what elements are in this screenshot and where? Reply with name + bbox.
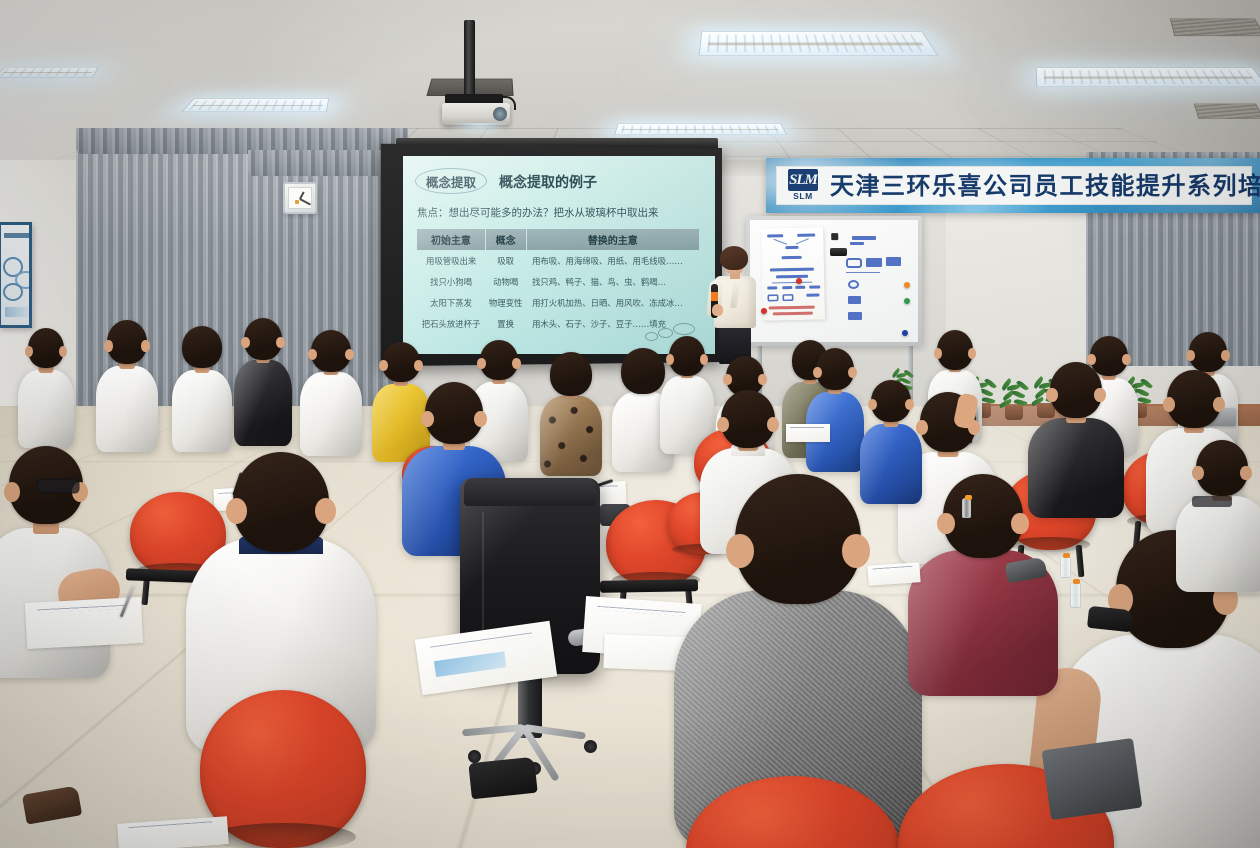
whiteboard-magnet <box>902 330 908 336</box>
slide-cell-original: 用吸管吸出来 <box>417 250 485 271</box>
handout-paper <box>867 562 920 586</box>
paper-ink-node <box>785 246 798 249</box>
paper-ink-box <box>767 294 778 301</box>
office-chair-caster <box>468 750 481 763</box>
slide-cell-alternatives: 找只鸡、鸭子、猫、鸟、虫、鹤喝… <box>526 271 699 292</box>
paper-ink-node <box>770 268 814 272</box>
attendee <box>806 348 864 468</box>
office-chair-headrest <box>464 478 596 506</box>
whiteboard-ink-stroke <box>852 236 876 240</box>
slide-cell-concept: 动物喝 <box>485 271 526 292</box>
projection-screen-surface: 概念提取 概念提取的例子 焦点：想出尽可能多的办法？把水从玻璃杯中取出来 初始主… <box>403 156 715 354</box>
microphone-orange-band <box>711 292 718 301</box>
paper-ink-leaf <box>767 286 777 289</box>
whiteboard-ink-circle <box>848 280 859 289</box>
shoe <box>468 757 537 800</box>
whiteboard-surface <box>750 220 918 342</box>
presentation-slide: 概念提取 概念提取的例子 焦点：想出尽可能多的办法？把水从玻璃杯中取出来 初始主… <box>403 156 715 354</box>
whiteboard-flipchart-paper <box>761 227 825 320</box>
air-vent <box>1170 18 1260 36</box>
whiteboard-ink-box <box>846 258 862 268</box>
eyeglasses <box>1192 496 1232 507</box>
slide-title-row: 概念提取 概念提取的例子 <box>417 170 705 193</box>
slide-table-header-row: 初始主意 概念 替换的主意 <box>417 229 699 250</box>
attendee-torso <box>172 370 232 452</box>
attendee-head <box>735 474 861 604</box>
slide-cell-concept: 物理变性 <box>485 292 526 313</box>
poster-diagram-circle <box>3 283 23 301</box>
ceiling-light-panel <box>699 31 939 55</box>
attendee-head <box>382 342 420 382</box>
attendee <box>1176 440 1260 590</box>
office-chair-caster <box>584 740 597 753</box>
presenter <box>706 246 766 362</box>
attendee-head <box>1196 440 1248 496</box>
whiteboard-tape <box>831 233 838 240</box>
paper-ink-red-note <box>769 306 815 310</box>
attendee <box>540 352 602 472</box>
poster-title-bar <box>4 233 30 238</box>
water-bottle <box>962 498 971 518</box>
banner-inner-panel: SLM SLM 天津三环乐喜公司员工技能提升系列培训 <box>776 166 1252 205</box>
office-chair-base <box>466 718 600 762</box>
paper-ink-edge <box>772 282 812 284</box>
attendee-head <box>721 390 775 448</box>
slide-cell-alternatives: 用布吸、用海绵吸、用纸、用毛线吸…… <box>526 250 699 271</box>
slide-table-row: 找只小狗喝 动物喝 找只鸡、鸭子、猫、鸟、虫、鹤喝… <box>417 271 699 292</box>
slide-cell-alternatives: 用打火机加热、日晒、用风吹、冻成冰… <box>526 292 699 313</box>
whiteboard-ink-stroke <box>866 258 882 267</box>
slide-col-header: 替换的主意 <box>526 229 699 250</box>
whiteboard-ink-line <box>846 272 880 273</box>
attendee-head <box>28 328 64 368</box>
whiteboard-magnet <box>904 282 910 288</box>
attendee-head <box>937 330 973 370</box>
clock-face <box>288 187 312 209</box>
whiteboard-ink-stroke <box>848 312 862 320</box>
paper-ink-node <box>782 256 802 259</box>
ceiling-light-panel <box>181 98 329 112</box>
attendee-head <box>943 474 1023 558</box>
banner-title: 天津三环乐喜公司员工技能提升系列培训 <box>830 174 1260 198</box>
paper-ink-node <box>797 234 815 237</box>
slide-table-row: 用吸管吸出来 吸取 用布吸、用海绵吸、用纸、用毛线吸…… <box>417 250 699 271</box>
classroom-chair <box>686 776 900 848</box>
slide-col-header: 概念 <box>485 229 526 250</box>
paper-ink-edge <box>796 238 809 244</box>
shoe <box>1087 606 1133 632</box>
attendee-head <box>1167 370 1221 428</box>
paper-ink-box <box>782 294 793 301</box>
attendee-torso <box>540 396 602 476</box>
attendee-head <box>480 340 518 380</box>
attendee-head <box>621 348 665 394</box>
whiteboard-ink-stroke <box>886 257 901 266</box>
clock-logo-dot <box>295 200 299 204</box>
clock-minute-hand <box>300 198 311 205</box>
slide-table-row: 太阳下蒸发 物理变性 用打火机加热、日晒、用风吹、冻成冰… <box>417 292 699 313</box>
presenter-hair <box>720 246 748 270</box>
training-banner: SLM SLM 天津三环乐喜公司员工技能提升系列培训 <box>766 158 1260 213</box>
paper-ink-leaf <box>795 286 805 289</box>
projector-mount-pole <box>464 20 475 96</box>
paper-ink-node <box>767 234 783 237</box>
whiteboard-magnet <box>904 298 910 304</box>
paper-ink-node <box>776 275 808 279</box>
attendee-head <box>1189 332 1227 372</box>
eyeglasses <box>38 480 78 492</box>
ceiling-light-panel <box>614 123 787 135</box>
ceiling-light-panel <box>1036 68 1260 88</box>
attendee-head <box>1050 362 1102 418</box>
attendee-head <box>425 382 483 444</box>
attendee-head <box>816 348 854 390</box>
slm-logo-mark: SLM <box>788 169 818 191</box>
projector-body <box>442 103 510 125</box>
slide-cell-original: 把石头放进杯子 <box>417 314 485 335</box>
paper-ink-leaf <box>806 293 819 296</box>
projector-beam-glow <box>450 123 510 139</box>
paper-ink-edge <box>774 239 787 245</box>
attendee <box>300 330 362 454</box>
paper-ink-red-note <box>773 312 813 316</box>
attendee-torso <box>96 366 158 452</box>
slide-cell-concept: 吸取 <box>485 250 526 271</box>
slm-logo-text: SLM <box>793 192 813 201</box>
slide-title: 概念提取的例子 <box>499 172 597 192</box>
water-bottle <box>1070 582 1081 608</box>
attendee-torso <box>18 370 74 448</box>
attendee <box>18 328 74 448</box>
whiteboard-eraser <box>830 248 847 256</box>
plant-leaves <box>998 375 1030 409</box>
attendee-head <box>311 330 351 372</box>
whiteboard <box>746 216 922 346</box>
plant-pot <box>1005 405 1023 420</box>
slide-cell-concept: 置换 <box>485 314 526 335</box>
photo-scene: SLM SLM 天津三环乐喜公司员工技能提升系列培训 概念提取 概念提取的例子 … <box>0 0 1260 848</box>
attendee-head <box>233 452 329 552</box>
bag <box>1042 738 1143 820</box>
ceiling-light-panel <box>0 67 99 78</box>
attendee <box>172 326 232 450</box>
slide-badge: 概念提取 <box>417 170 485 193</box>
attendee-head <box>669 336 705 376</box>
slide-focus-line: 焦点：想出尽可能多的办法？把水从玻璃杯中取出来 <box>417 205 705 220</box>
attendee <box>908 474 1058 694</box>
slm-logo-icon: SLM SLM <box>784 168 822 204</box>
presenter-hand <box>712 304 723 316</box>
attendee-head <box>107 320 147 364</box>
whiteboard-magnet <box>796 278 802 284</box>
attendee-head <box>550 352 592 396</box>
slide-col-header: 初始主意 <box>417 229 485 250</box>
attendee-torso <box>234 360 292 446</box>
chair-shadow <box>210 823 356 848</box>
attendee-head <box>871 380 911 422</box>
paper-ink-leaf <box>809 285 820 288</box>
attendee-head <box>182 326 222 368</box>
attendee-head <box>244 318 282 360</box>
whiteboard-ink-stroke <box>848 296 861 304</box>
slide-cell-original: 找只小狗喝 <box>417 271 485 292</box>
attendee-torso <box>1176 496 1260 592</box>
air-vent <box>1194 104 1260 119</box>
potted-plant <box>998 374 1030 420</box>
poster-footer-band <box>5 307 29 317</box>
chair-shell <box>686 776 900 848</box>
slide-cell-original: 太阳下蒸发 <box>417 292 485 313</box>
framed-poster <box>0 222 32 328</box>
wall-clock <box>283 182 317 214</box>
paper-ink-leaf <box>782 286 792 289</box>
attendee-torso <box>300 372 362 456</box>
attendee <box>96 320 158 450</box>
slide-table: 初始主意 概念 替换的主意 用吸管吸出来 吸取 用布吸、用海绵吸、用纸、用毛线吸… <box>417 229 699 335</box>
whiteboard-ink-stroke <box>850 242 864 245</box>
attendee <box>234 318 292 444</box>
water-bottle <box>1060 556 1071 578</box>
